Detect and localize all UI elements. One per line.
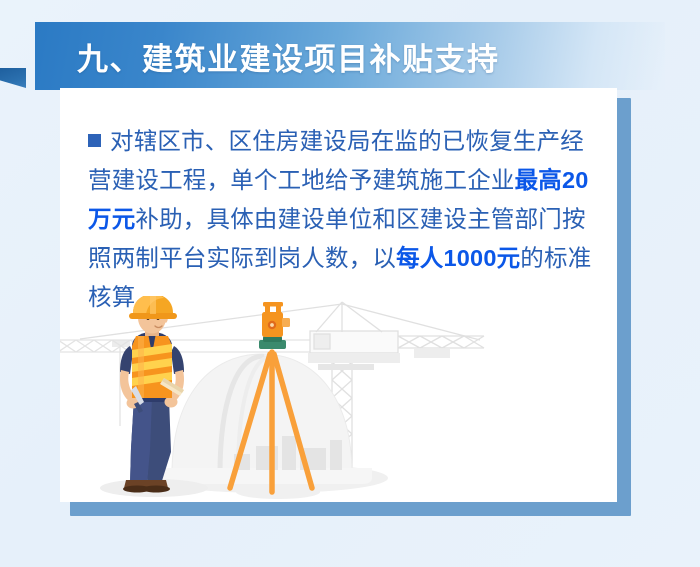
content-card: 对辖区市、区住房建设局在监的已恢复生产经营建设工程，单个工地给予建筑施工企业最高… [60,88,617,502]
square-bullet-icon [88,134,101,147]
banner-fold-corner [0,68,26,88]
ground-shadow-tripod [236,485,320,499]
title-banner: 九、建筑业建设项目补贴支持 [35,22,665,90]
body-paragraph: 对辖区市、区住房建设局在监的已恢复生产经营建设工程，单个工地给予建筑施工企业最高… [88,122,598,317]
paragraph-highlight-2: 每人1000元 [396,245,520,271]
banner-title: 九、建筑业建设项目补贴支持 [77,22,500,90]
infographic-slide: 九、建筑业建设项目补贴支持 对辖区市、区住房建设局在监的已恢复生产经营建设工程，… [0,0,700,567]
construction-illustration [60,296,617,502]
paragraph-segment-1: 对辖区市、区住房建设局在监的已恢复生产经营建设工程，单个工地给予建筑施工企业 [88,128,584,193]
